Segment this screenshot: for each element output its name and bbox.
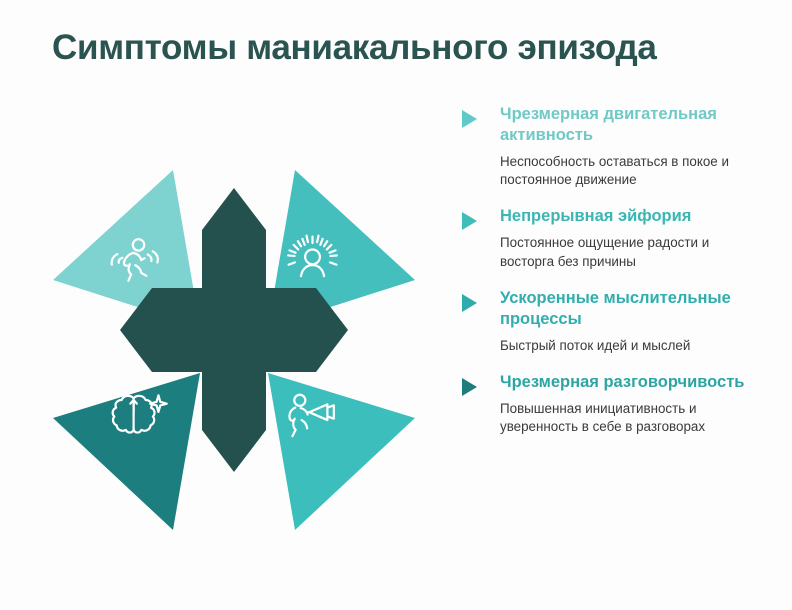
triangle-right-icon — [462, 212, 477, 230]
list-item: Чрезмерная разговорчивость Повышенная ин… — [462, 372, 762, 436]
symptom-heading: Чрезмерная разговорчивость — [500, 372, 762, 393]
symptom-description: Повышенная инициативность и уверенность … — [500, 400, 762, 436]
page-title: Симптомы маниакального эпизода — [52, 28, 772, 68]
triangle-right-icon — [462, 110, 477, 128]
symptom-heading: Ускоренные мыслительные процессы — [500, 288, 762, 330]
triangle-right-icon — [462, 378, 477, 396]
symptom-description: Неспособность оставаться в покое и посто… — [500, 153, 762, 189]
infographic-page: Симптомы маниакального эпизода — [0, 0, 792, 610]
symptom-diagram — [48, 160, 420, 540]
symptom-diagram-svg — [48, 160, 420, 540]
symptom-description: Быстрый поток идей и мыслей — [500, 337, 762, 355]
diagram-segment-bottom-right — [268, 373, 415, 530]
symptom-list: Чрезмерная двигательная активность Неспо… — [462, 104, 762, 436]
triangle-right-icon — [462, 294, 477, 312]
symptom-heading: Чрезмерная двигательная активность — [500, 104, 762, 146]
symptom-heading: Непрерывная эйфория — [500, 206, 762, 227]
symptom-description: Постоянное ощущение радости и восторга б… — [500, 234, 762, 270]
list-item: Ускоренные мыслительные процессы Быстрый… — [462, 288, 762, 355]
bottom-right-triangle — [268, 373, 415, 530]
list-item: Непрерывная эйфория Постоянное ощущение … — [462, 206, 762, 270]
diagram-segment-bottom-left — [53, 373, 200, 530]
list-item: Чрезмерная двигательная активность Неспо… — [462, 104, 762, 189]
